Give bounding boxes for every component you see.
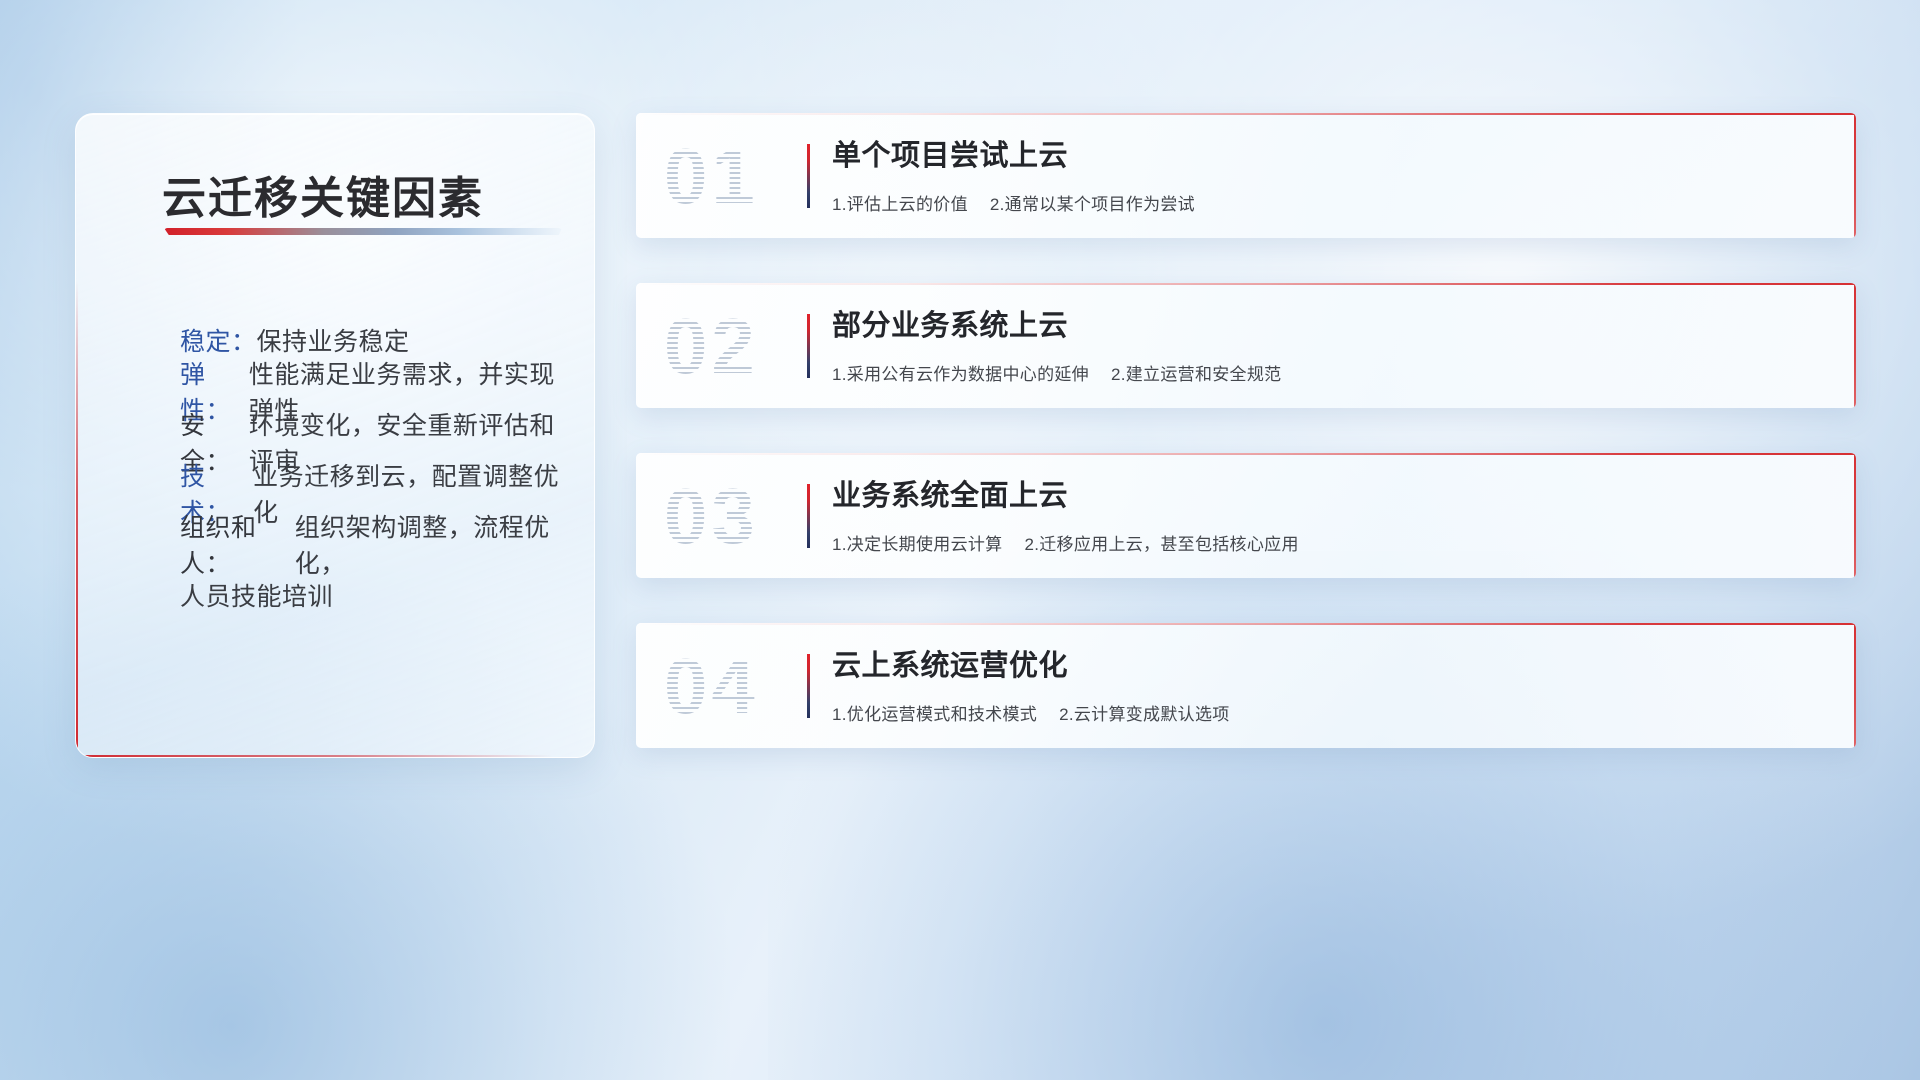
stage-title: 部分业务系统上云 xyxy=(832,309,1816,344)
stage-point-2: 2.迁移应用上云，甚至包括核心应用 xyxy=(1024,535,1298,554)
stage-divider-bar xyxy=(807,654,810,718)
stage-divider-bar xyxy=(807,144,810,208)
stage-point-1: 1.决定长期使用云计算 xyxy=(832,535,1002,554)
stage-point-1: 1.评估上云的价值 xyxy=(832,195,968,214)
factor-label: 组织和人： xyxy=(180,508,295,580)
stage-subtitle: 1.决定长期使用云计算2.迁移应用上云，甚至包括核心应用 xyxy=(832,530,1816,555)
stage-point-2: 2.建立运营和安全规范 xyxy=(1111,365,1281,384)
key-factors-panel: 云迁移关键因素 稳定： 保持业务稳定 弹性： 性能满足业务需求，并实现弹性 安全… xyxy=(75,113,595,758)
stage-subtitle: 1.优化运营模式和技术模式2.云计算变成默认选项 xyxy=(832,700,1816,725)
stage-body: 部分业务系统上云 1.采用公有云作为数据中心的延伸2.建立运营和安全规范 xyxy=(832,309,1816,385)
stage-body: 单个项目尝试上云 1.评估上云的价值2.通常以某个项目作为尝试 xyxy=(832,139,1816,215)
stage-number: 03 xyxy=(664,477,759,555)
stage-card[interactable]: 01 单个项目尝试上云 1.评估上云的价值2.通常以某个项目作为尝试 xyxy=(636,113,1856,238)
stage-card[interactable]: 04 云上系统运营优化 1.优化运营模式和技术模式2.云计算变成默认选项 xyxy=(636,623,1856,748)
stage-divider-bar xyxy=(807,484,810,548)
stage-card-list: 01 单个项目尝试上云 1.评估上云的价值2.通常以某个项目作为尝试 02 部分… xyxy=(636,113,1856,748)
factor-text: 保持业务稳定 xyxy=(257,322,410,358)
stage-divider-bar xyxy=(807,314,810,378)
factor-text: 人员技能培训 xyxy=(180,577,333,613)
stage-body: 云上系统运营优化 1.优化运营模式和技术模式2.云计算变成默认选项 xyxy=(832,649,1816,725)
stage-point-1: 1.优化运营模式和技术模式 xyxy=(832,705,1037,724)
stage-number: 04 xyxy=(664,647,759,725)
stage-card[interactable]: 02 部分业务系统上云 1.采用公有云作为数据中心的延伸2.建立运营和安全规范 xyxy=(636,283,1856,408)
stage-point-2: 2.通常以某个项目作为尝试 xyxy=(990,195,1195,214)
stage-number: 02 xyxy=(664,307,759,385)
factor-text: 组织架构调整，流程优化， xyxy=(295,508,570,580)
factor-label: 稳定： xyxy=(180,322,257,358)
stage-subtitle: 1.采用公有云作为数据中心的延伸2.建立运营和安全规范 xyxy=(832,360,1816,385)
stage-point-2: 2.云计算变成默认选项 xyxy=(1059,705,1229,724)
factor-item: 组织和人： 组织架构调整，流程优化， xyxy=(108,518,570,569)
stage-title: 单个项目尝试上云 xyxy=(832,139,1816,174)
stage-point-1: 1.采用公有云作为数据中心的延伸 xyxy=(832,365,1089,384)
stage-subtitle: 1.评估上云的价值2.通常以某个项目作为尝试 xyxy=(832,190,1816,215)
title-underline-gradient-bar xyxy=(164,228,562,235)
stage-number: 01 xyxy=(664,137,759,215)
stage-card[interactable]: 03 业务系统全面上云 1.决定长期使用云计算2.迁移应用上云，甚至包括核心应用 xyxy=(636,453,1856,578)
factor-list: 稳定： 保持业务稳定 弹性： 性能满足业务需求，并实现弹性 安全： 环境变化，安… xyxy=(108,314,570,620)
stage-body: 业务系统全面上云 1.决定长期使用云计算2.迁移应用上云，甚至包括核心应用 xyxy=(832,479,1816,555)
panel-title: 云迁移关键因素 xyxy=(162,162,484,226)
stage-title: 业务系统全面上云 xyxy=(832,479,1816,514)
stage-title: 云上系统运营优化 xyxy=(832,649,1816,684)
